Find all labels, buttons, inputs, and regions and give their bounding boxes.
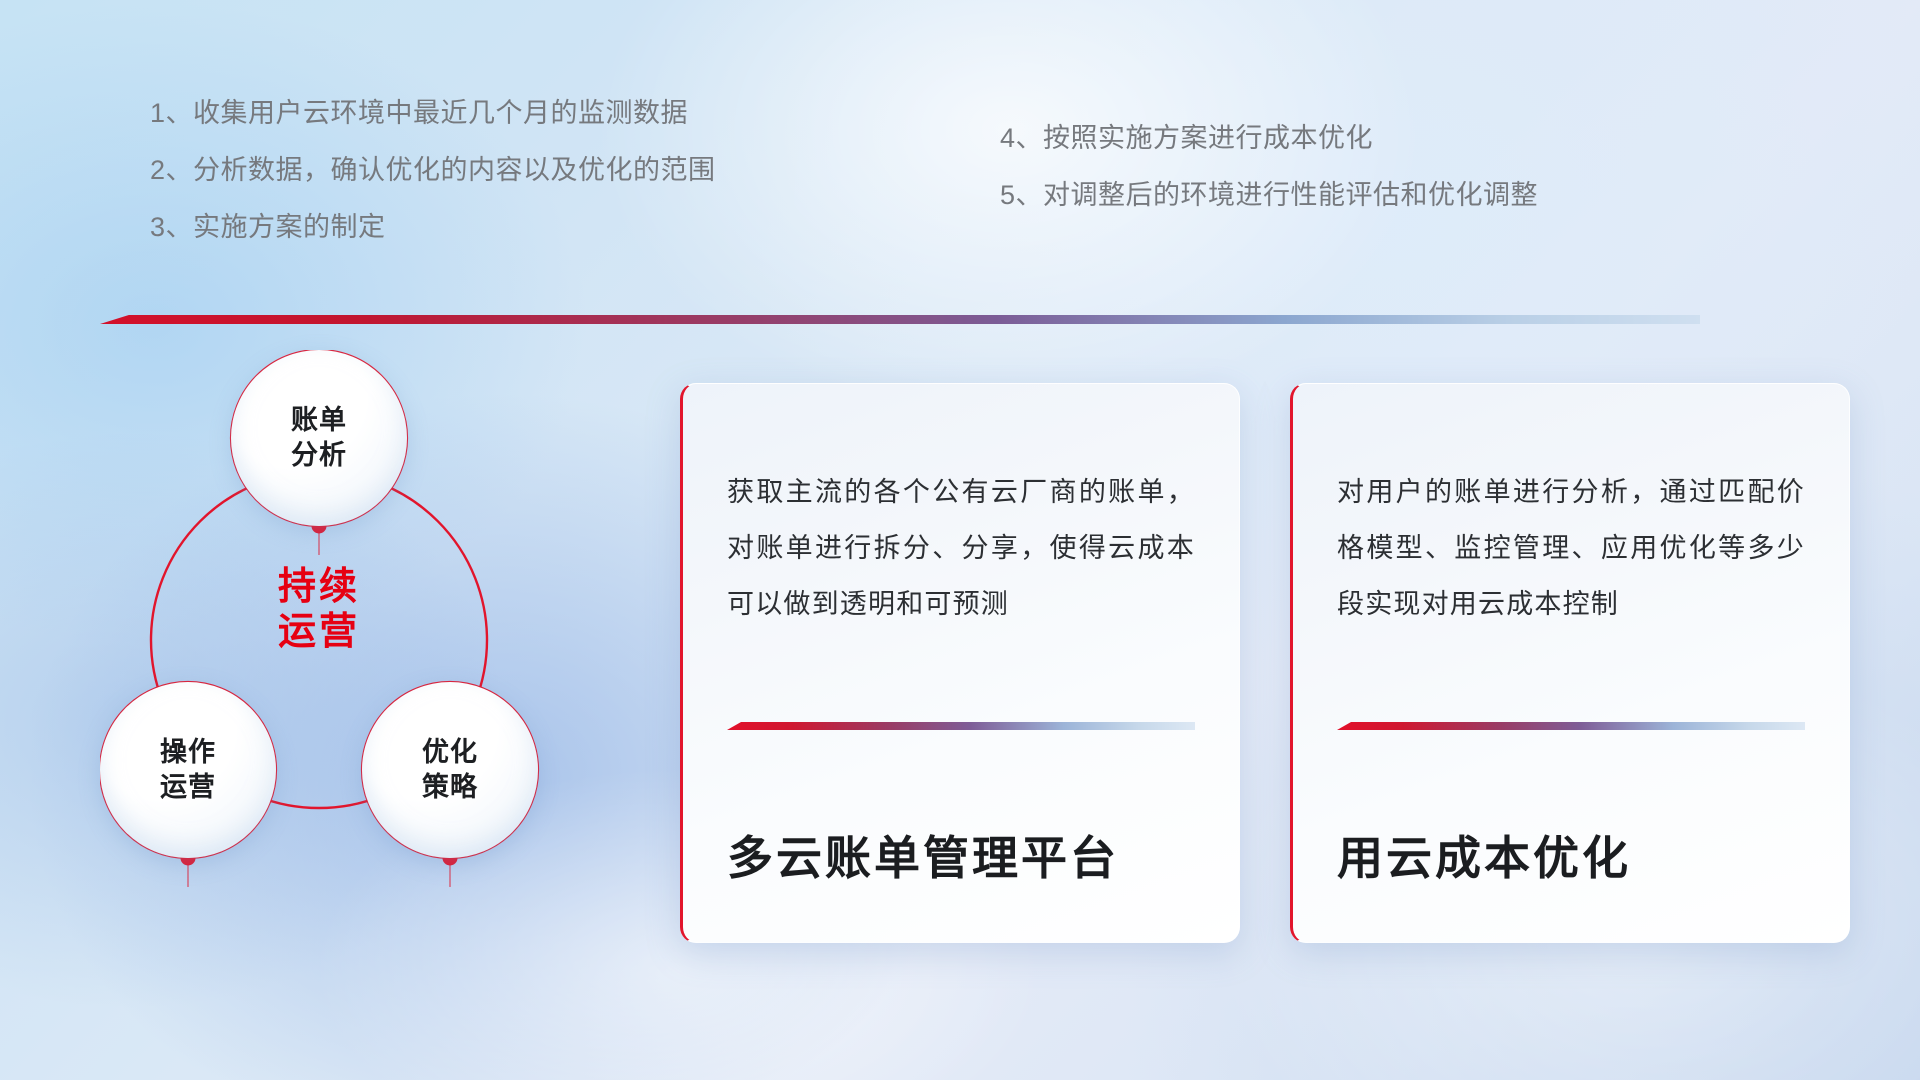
card-cloud-cost-optimization-rule-bar	[1337, 722, 1805, 730]
continuous-operations-diagram: 账单 分析 操作 运营 优化 策略 持续 运营	[100, 350, 570, 950]
bubble-bill-analysis-line1: 账单	[291, 403, 347, 438]
bubble-bill-analysis-line2: 分析	[291, 438, 347, 473]
venn-center-label: 持续 运营	[231, 565, 407, 655]
card-multicloud-billing-title: 多云账单管理平台	[727, 822, 1195, 888]
bubble-optimization-strategy[interactable]: 优化 策略	[362, 682, 538, 858]
card-multicloud-billing-rule	[727, 722, 1195, 730]
card-multicloud-billing[interactable]: 获取主流的各个公有云厂商的账单，对账单进行拆分、分享，使得云成本可以做到透明和可…	[680, 383, 1240, 943]
card-cloud-cost-optimization-title: 用云成本优化	[1337, 822, 1805, 888]
card-cloud-cost-optimization-rule	[1337, 722, 1805, 730]
bubble-operations-line2: 运营	[160, 770, 216, 805]
section-divider	[100, 315, 1700, 324]
process-step-3: 3、实施方案的制定	[150, 214, 716, 241]
process-step-5: 5、对调整后的环境进行性能评估和优化调整	[1000, 182, 1538, 209]
venn-center-label-line2: 运营	[231, 610, 407, 655]
venn-center-label-line1: 持续	[231, 565, 407, 610]
card-cloud-cost-optimization-body: 对用户的账单进行分析，通过匹配价格模型、监控管理、应用优化等多少段实现对用云成本…	[1337, 464, 1805, 672]
process-steps-left: 1、收集用户云环境中最近几个月的监测数据 2、分析数据，确认优化的内容以及优化的…	[150, 100, 716, 241]
bubble-operations-line1: 操作	[160, 735, 216, 770]
process-steps-right: 4、按照实施方案进行成本优化 5、对调整后的环境进行性能评估和优化调整	[1000, 125, 1538, 209]
bubble-operations[interactable]: 操作 运营	[100, 682, 276, 858]
slide-canvas: 1、收集用户云环境中最近几个月的监测数据 2、分析数据，确认优化的内容以及优化的…	[0, 0, 1920, 1080]
card-cloud-cost-optimization[interactable]: 对用户的账单进行分析，通过匹配价格模型、监控管理、应用优化等多少段实现对用云成本…	[1290, 383, 1850, 943]
process-step-2: 2、分析数据，确认优化的内容以及优化的范围	[150, 157, 716, 184]
bubble-optimization-strategy-line2: 策略	[422, 770, 478, 805]
card-multicloud-billing-body: 获取主流的各个公有云厂商的账单，对账单进行拆分、分享，使得云成本可以做到透明和可…	[727, 464, 1195, 672]
process-step-1: 1、收集用户云环境中最近几个月的监测数据	[150, 100, 716, 127]
process-step-4: 4、按照实施方案进行成本优化	[1000, 125, 1538, 152]
bubble-bill-analysis[interactable]: 账单 分析	[231, 350, 407, 526]
section-divider-bar	[100, 315, 1700, 324]
bubble-optimization-strategy-line1: 优化	[422, 735, 478, 770]
card-multicloud-billing-rule-bar	[727, 722, 1195, 730]
